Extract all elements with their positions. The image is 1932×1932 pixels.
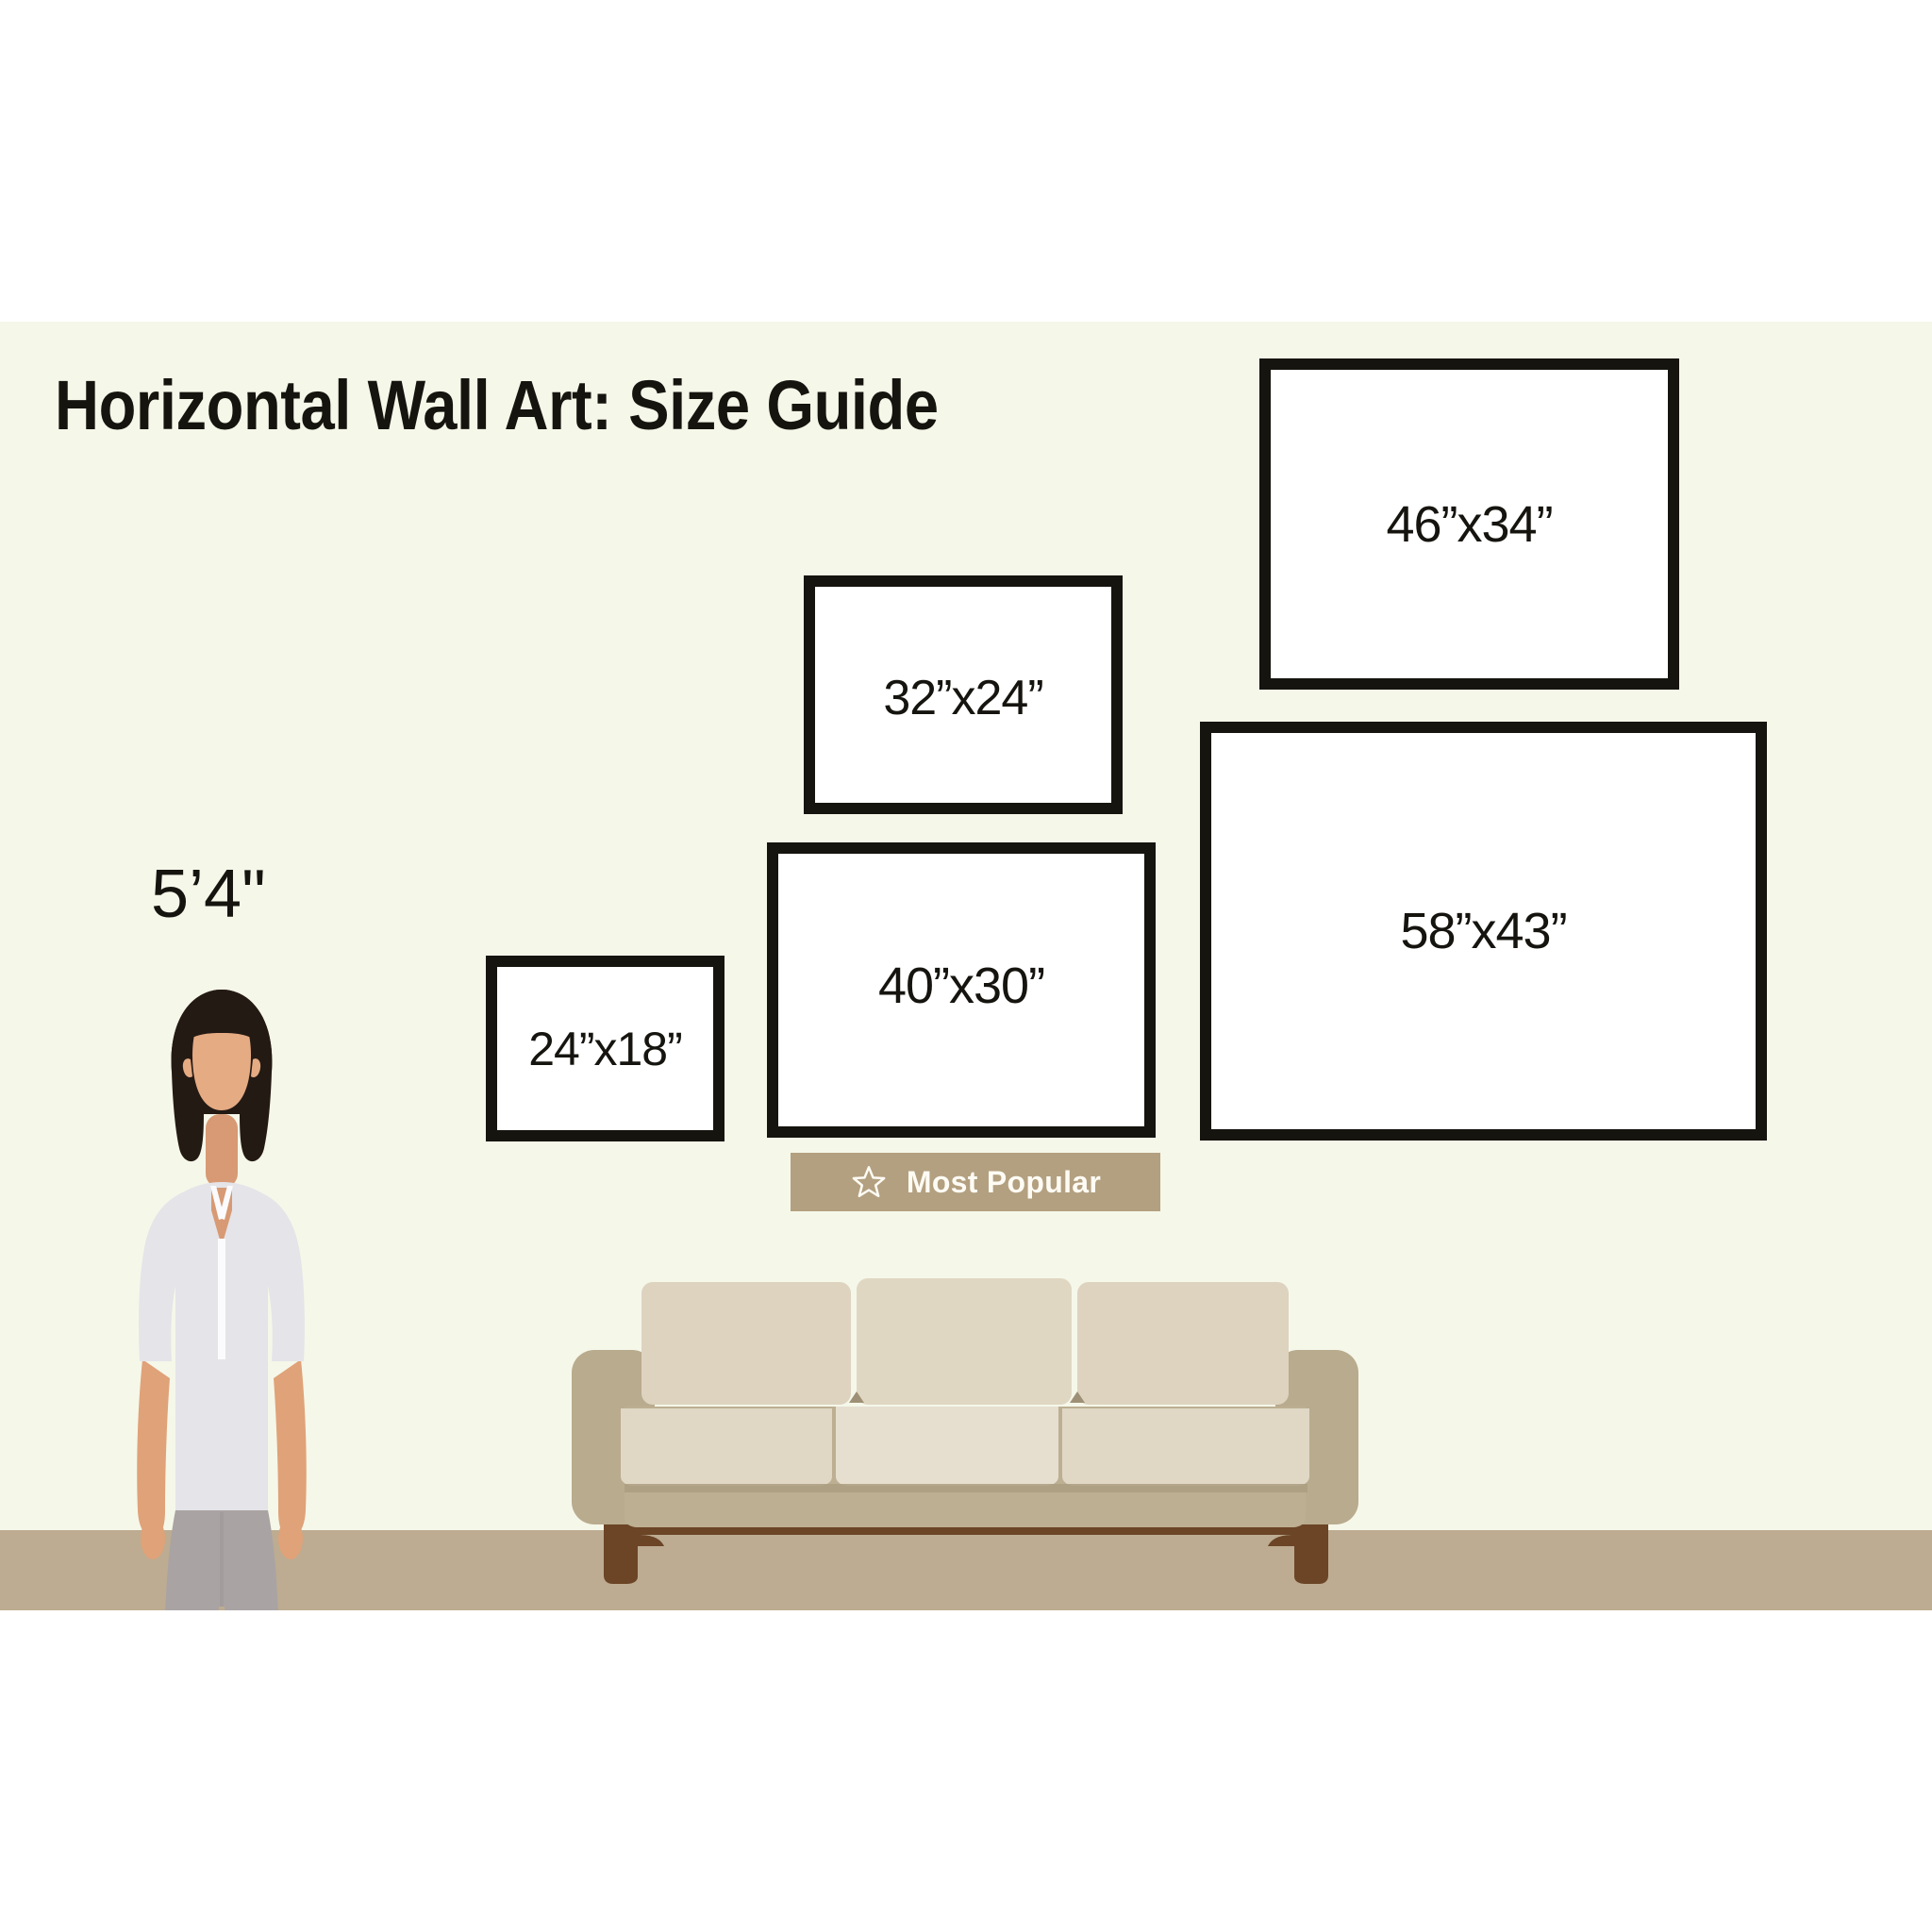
infographic-canvas: Horizontal Wall Art: Size Guide 5’4" 24”… (0, 0, 1932, 1932)
star-outline-icon (850, 1163, 888, 1201)
room-scene: Horizontal Wall Art: Size Guide 5’4" 24”… (0, 322, 1932, 1610)
frame-32x24-label: 32”x24” (883, 670, 1042, 726)
person-figure (113, 935, 330, 1610)
frame-24x18[interactable]: 24”x18” (486, 956, 724, 1141)
person-height-label: 5’4" (151, 856, 266, 933)
frame-46x34-label: 46”x34” (1386, 495, 1552, 554)
frame-40x30-label: 40”x30” (878, 957, 1044, 1015)
most-popular-label: Most Popular (907, 1165, 1101, 1200)
frame-40x30[interactable]: 40”x30” (767, 842, 1156, 1138)
most-popular-badge[interactable]: Most Popular (791, 1153, 1160, 1211)
frame-46x34[interactable]: 46”x34” (1259, 358, 1679, 690)
page-title: Horizontal Wall Art: Size Guide (55, 365, 939, 445)
frame-24x18-label: 24”x18” (528, 1022, 682, 1076)
frame-58x43-label: 58”x43” (1400, 902, 1566, 960)
frame-58x43[interactable]: 58”x43” (1200, 722, 1767, 1141)
frame-32x24[interactable]: 32”x24” (804, 575, 1123, 814)
sofa (555, 1265, 1375, 1586)
